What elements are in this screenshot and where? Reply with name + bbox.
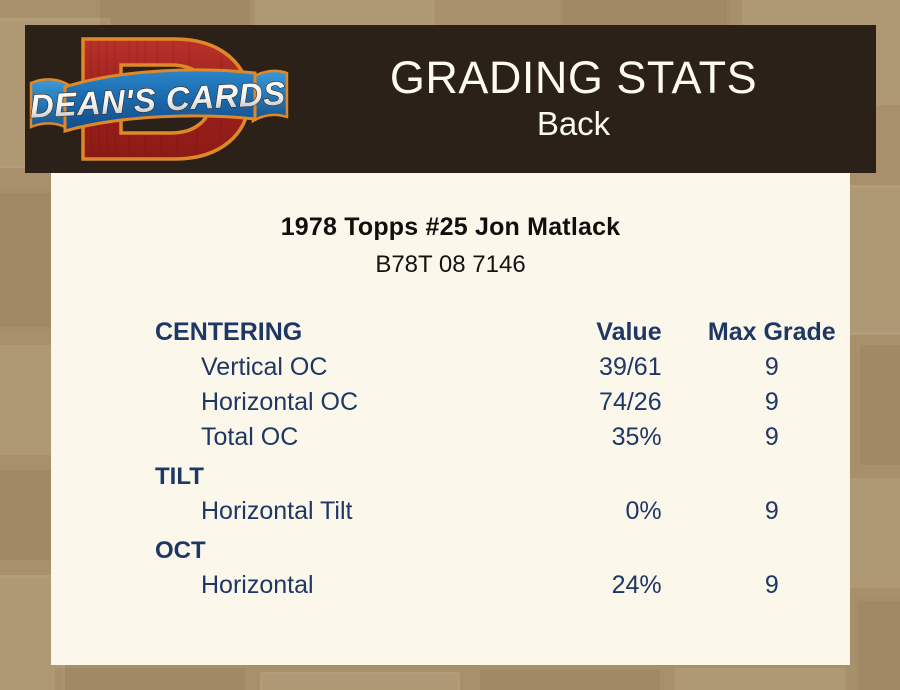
logo-artwork: DEAN'S CARDS xyxy=(25,25,293,173)
table-header-row: CENTERINGValueMax Grade xyxy=(51,315,850,350)
bg-card-shape xyxy=(848,478,900,588)
bg-card-shape xyxy=(845,185,900,335)
table-row: Total OC35%9 xyxy=(51,420,850,455)
column-header-max-grade: Max Grade xyxy=(694,315,850,350)
row-label: Vertical OC xyxy=(51,350,515,385)
bg-card-shape xyxy=(675,668,845,690)
row-label: Horizontal OC xyxy=(51,385,515,420)
column-header-value: Value xyxy=(515,315,694,350)
row-max-grade: 9 xyxy=(694,350,850,385)
table-section-row: OCT xyxy=(51,529,850,568)
section-header-centering: CENTERING xyxy=(51,315,515,350)
section-spacer xyxy=(515,529,694,568)
section-spacer xyxy=(694,455,850,494)
row-label: Horizontal Tilt xyxy=(51,494,515,529)
row-value: 39/61 xyxy=(515,350,694,385)
section-header-tilt: TILT xyxy=(51,455,515,494)
section-spacer xyxy=(694,529,850,568)
grading-stats-table: CENTERINGValueMax GradeVertical OC39/619… xyxy=(51,315,850,603)
row-value: 74/26 xyxy=(515,385,694,420)
row-max-grade: 9 xyxy=(694,568,850,603)
bg-card-shape xyxy=(480,670,660,690)
bg-card-shape xyxy=(260,672,460,690)
card-title: 1978 Topps #25 Jon Matlack xyxy=(51,213,850,242)
header-bar: DEAN'S CARDS GRADING STATS Back xyxy=(25,25,876,173)
table-section-row: TILT xyxy=(51,455,850,494)
row-value: 24% xyxy=(515,568,694,603)
row-max-grade: 9 xyxy=(694,494,850,529)
grading-stats-panel: 1978 Topps #25 Jon Matlack B78T 08 7146 … xyxy=(51,173,850,665)
page-title: GRADING STATS xyxy=(293,52,854,104)
row-max-grade: 9 xyxy=(694,385,850,420)
table-row: Horizontal24%9 xyxy=(51,568,850,603)
row-label: Horizontal xyxy=(51,568,515,603)
bg-card-shape xyxy=(55,668,245,690)
bg-card-shape xyxy=(860,345,900,465)
table-row: Vertical OC39/619 xyxy=(51,350,850,385)
table-row: Horizontal Tilt0%9 xyxy=(51,494,850,529)
section-header-oct: OCT xyxy=(51,529,515,568)
row-max-grade: 9 xyxy=(694,420,850,455)
header-titles: GRADING STATS Back xyxy=(293,52,876,144)
card-code: B78T 08 7146 xyxy=(51,251,850,279)
table-row: Horizontal OC74/269 xyxy=(51,385,850,420)
page-subtitle: Back xyxy=(293,104,854,144)
section-spacer xyxy=(515,455,694,494)
bg-card-shape xyxy=(855,598,900,690)
row-label: Total OC xyxy=(51,420,515,455)
row-value: 35% xyxy=(515,420,694,455)
deans-cards-logo: DEAN'S CARDS xyxy=(25,25,293,173)
row-value: 0% xyxy=(515,494,694,529)
